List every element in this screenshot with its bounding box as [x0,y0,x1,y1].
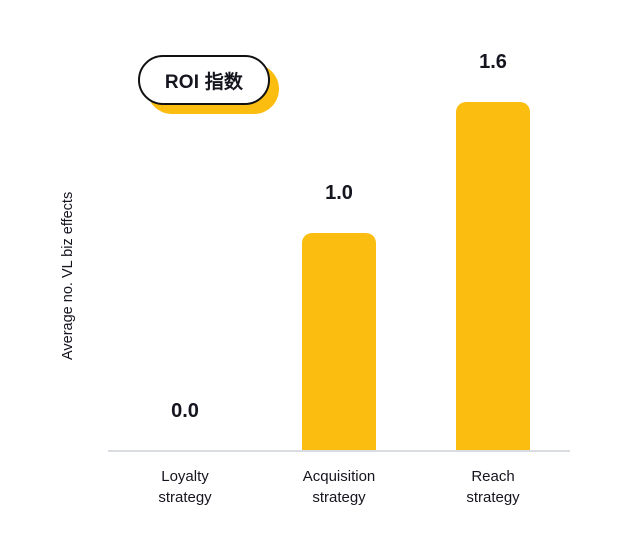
bar-value-label: 1.0 [325,182,353,205]
x-tick-line: strategy [108,487,262,508]
bar-reach[interactable] [456,102,530,451]
x-tick-label-loyalty: Loyalty strategy [108,466,262,508]
bar-group-loyalty: 0.0 [108,40,262,451]
x-tick-label-acquisition: Acquisition strategy [262,466,416,508]
x-tick-line: Loyalty [108,466,262,487]
bar-group-acquisition: 1.0 [262,40,416,451]
bar-group-reach: 1.6 [416,40,570,451]
y-axis-title: Average no. VL biz effects [58,100,78,360]
x-axis-tick-labels: Loyalty strategy Acquisition strategy Re… [108,466,570,526]
bar-value-label: 1.6 [479,51,507,74]
x-tick-line: Reach [416,466,570,487]
x-axis-line [108,450,570,452]
bar-acquisition[interactable] [302,233,376,451]
plot-area: 0.0 1.0 1.6 [108,40,570,451]
x-tick-line: strategy [262,487,416,508]
chart-canvas: ROI 指数 Average no. VL biz effects 0.0 1.… [0,0,629,540]
x-tick-line: strategy [416,487,570,508]
x-tick-label-reach: Reach strategy [416,466,570,508]
bar-value-label: 0.0 [171,400,199,423]
x-tick-line: Acquisition [262,466,416,487]
